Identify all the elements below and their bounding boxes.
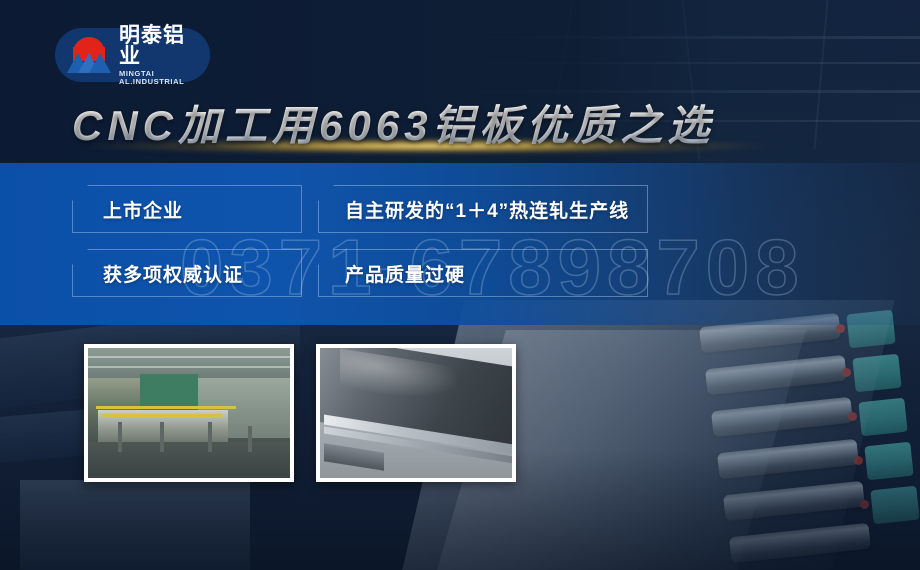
logo-wordmark: 明泰铝业 MINGTAI AL.INDUSTRIAL <box>119 25 198 85</box>
plate-photo-content <box>320 348 512 478</box>
machine-leg <box>118 422 122 452</box>
feature-label-3: 获多项权威认证 <box>103 260 243 287</box>
mountain-shape-right <box>89 53 111 73</box>
feature-label-2: 自主研发的“1＋4”热连轧生产线 <box>345 196 629 223</box>
page-title: CNC加工用6063铝板优质之选 <box>72 98 872 154</box>
company-logo[interactable]: 明泰铝业 MINGTAI AL.INDUSTRIAL <box>55 28 210 82</box>
logo-chinese-name: 明泰铝业 <box>119 25 198 67</box>
sun-over-mountains-icon <box>67 37 111 73</box>
roof-beam <box>88 366 290 368</box>
machine-leg <box>160 422 164 452</box>
feature-label-4: 产品质量过硬 <box>345 260 465 287</box>
roof-beam <box>88 356 290 358</box>
factory-photo-content <box>88 348 290 478</box>
feature-box-1: 上市企业 <box>72 185 302 233</box>
feature-box-3: 获多项权威认证 <box>72 249 302 297</box>
promo-banner: 明泰铝业 MINGTAI AL.INDUSTRIAL CNC加工用6063铝板优… <box>0 0 920 570</box>
feature-label-1: 上市企业 <box>103 196 183 223</box>
yellow-rail <box>96 406 236 409</box>
machine-leg <box>248 426 252 452</box>
aluminum-plate-product-photo <box>316 344 516 482</box>
logo-english-name: MINGTAI AL.INDUSTRIAL <box>119 70 198 85</box>
feature-box-2: 自主研发的“1＋4”热连轧生产线 <box>318 185 648 233</box>
machine-leg <box>208 422 212 452</box>
feature-box-4: 产品质量过硬 <box>318 249 648 297</box>
factory-production-line-photo <box>84 344 294 482</box>
yellow-rail <box>102 414 222 417</box>
plate-side-face <box>324 443 384 471</box>
